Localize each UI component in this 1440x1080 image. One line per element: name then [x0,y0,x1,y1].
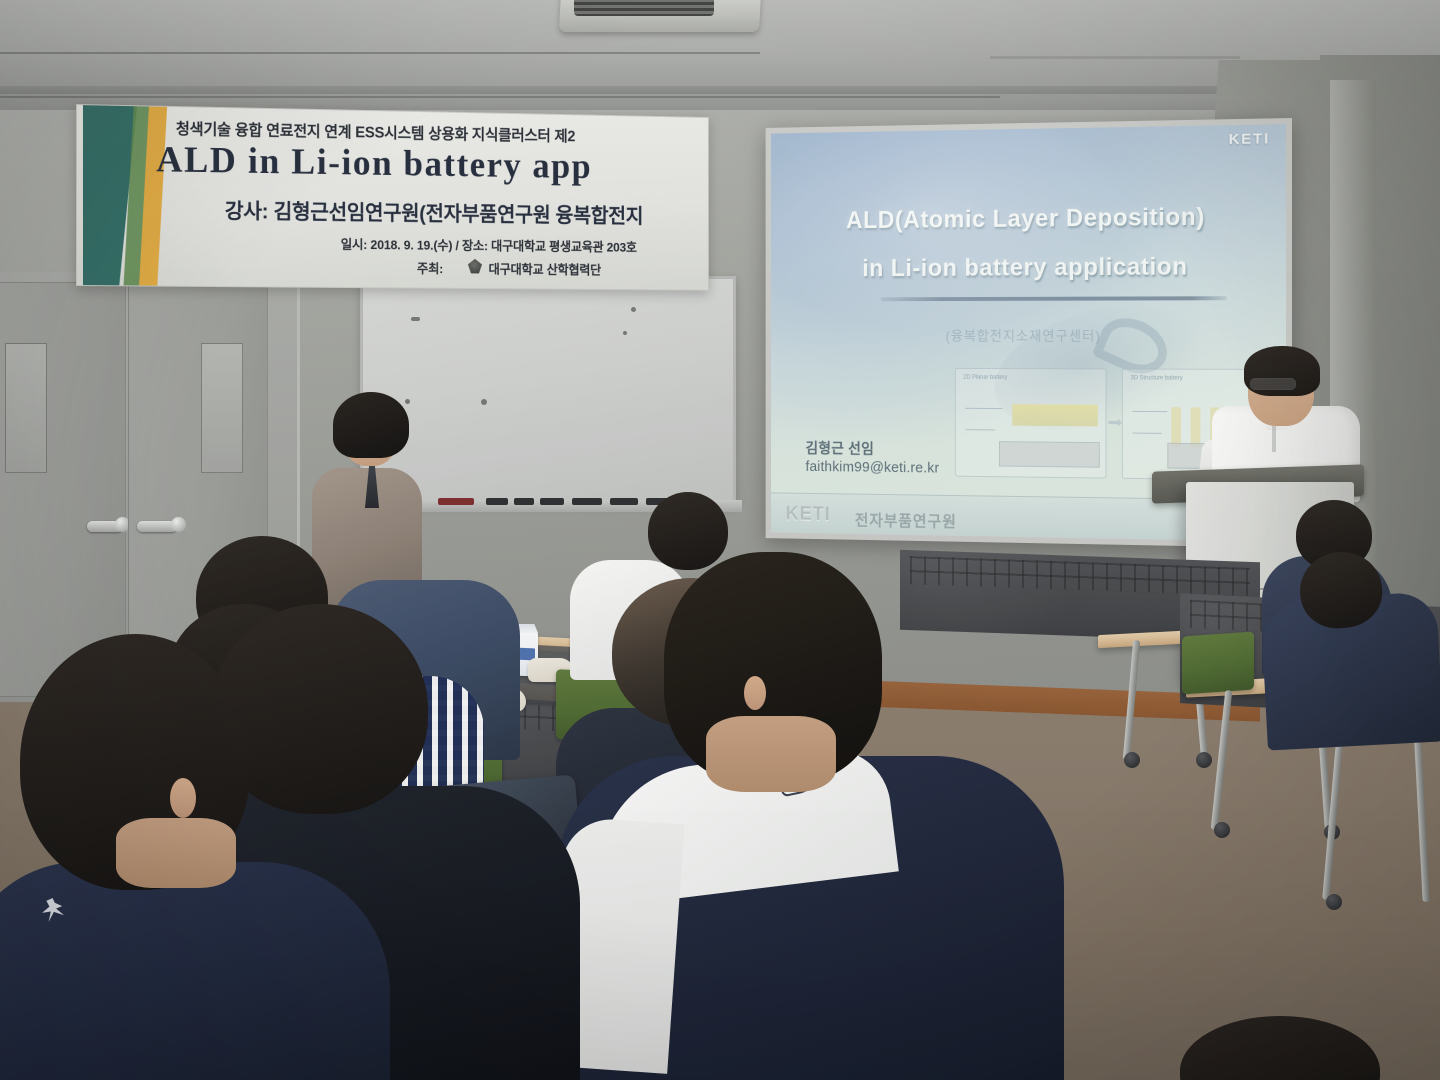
slide-subtitle: (융복합전지소재연구센터) [771,326,1286,346]
slide-diagram-3d-label: 3D Structure battery [1131,375,1183,381]
banner-host-org: 대구대학교 산학협력단 [489,259,601,278]
banner-datetime-line: 일시: 2018. 9. 19.(수) / 장소: 대구대학교 평생교육관 20… [341,234,637,256]
air-vent-icon [574,0,714,16]
marker-black-icon[interactable] [610,498,638,505]
slide-divider [881,296,1227,301]
slide-diagram-2d: 2D Planar battery [955,368,1107,479]
woman-hair [333,392,409,458]
slide-presenter-email: faithkim99@keti.re.kr [805,458,939,476]
desk-caster [1214,822,1230,838]
desk-caster [1196,752,1212,768]
banner-host-label: 주최: [417,258,443,277]
marker-red-icon[interactable] [438,498,474,505]
desk-caster [1326,894,1342,910]
door-knob-icon[interactable] [171,517,186,532]
marker-black-icon[interactable] [572,498,602,505]
diagram-active-layer [1012,404,1098,426]
marker-black-icon[interactable] [514,498,534,505]
ceiling-seam [990,56,1240,59]
ceiling-seam [0,52,760,54]
lecture-hall-photo: 청색기술 융합 연료전지 연계 ESS시스템 상용화 지식클러스터 제2 ALD… [0,0,1440,1080]
marker-black-icon[interactable] [540,498,564,505]
slide-title-line2: in Li-ion battery application [771,252,1286,283]
slide-diagram-2d-label: 2D Planar battery [963,375,1007,381]
university-emblem-icon [468,259,482,274]
chair-right-mid [1182,631,1254,694]
footer-keti-logo: KETI [786,503,831,526]
event-banner: 청색기술 융합 연료전지 연계 ESS시스템 상용화 지식클러스터 제2 ALD… [76,104,709,291]
slide-title-line1: ALD(Atomic Layer Deposition) [771,202,1286,236]
slide-presenter-name: 김형근 선임 [805,437,874,458]
ceiling-seam [0,96,1000,98]
door-left[interactable] [0,282,126,697]
keti-logo: KETI [1229,130,1271,148]
marker-black-icon[interactable] [486,498,508,505]
desk-caster [1124,752,1140,768]
banner-title: ALD in Li-ion battery app [156,138,592,187]
diagram-substrate [999,441,1100,468]
door-window [201,343,243,473]
door-window [5,343,47,473]
footer-org-name: 전자부품연구원 [855,507,957,532]
glasses-icon [1250,378,1296,390]
whiteboard [360,276,736,504]
banner-speaker-line: 강사: 김형근선임연구원(전자부품연구원 융복합전지 [225,195,643,230]
